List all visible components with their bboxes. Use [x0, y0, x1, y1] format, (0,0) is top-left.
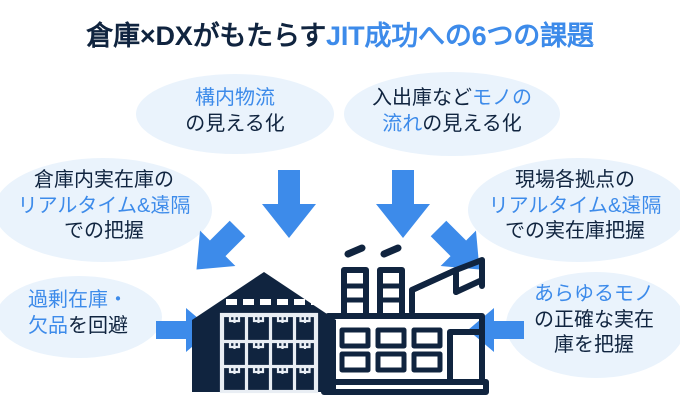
factory-icon — [324, 248, 486, 392]
callout-segment: リアルタイム&遠隔 — [489, 195, 662, 217]
callout-line: 流れの見える化 — [352, 112, 552, 138]
arrow-down-icon-left — [258, 168, 320, 240]
callout-arayuru-mono-seikaku: あらゆるモノ の正確な実在 庫を把握 — [516, 282, 672, 359]
callout-line: 入出庫などモノの — [352, 86, 552, 112]
callout-nyushukko-mono-nagare: 入出庫などモノの 流れの見える化 — [352, 86, 552, 137]
callout-line: あらゆるモノ — [516, 282, 672, 308]
callout-segment: 流れ — [382, 113, 422, 135]
smoke-puff-icon — [348, 248, 398, 254]
callout-segment: を回避 — [68, 315, 128, 337]
callout-segment: の見える化 — [422, 113, 521, 135]
callout-line: 過剰在庫・ — [8, 288, 148, 314]
callout-segment: 倉庫内実在庫の — [34, 169, 174, 191]
callout-line: 欠品を回避 — [8, 314, 148, 340]
title-part-blue: JIT成功への6つの課題 — [326, 21, 594, 51]
callout-segment: リアルタイム&遠隔 — [18, 195, 191, 217]
callout-line: での把握 — [6, 219, 202, 245]
callout-line: の正確な実在 — [516, 308, 672, 334]
callout-line: 庫を把握 — [516, 333, 672, 359]
callout-segment: の見える化 — [185, 113, 284, 135]
title-part-navy: 倉庫×DXがもたらす — [86, 21, 326, 51]
callout-line: での実在庫把握 — [476, 219, 674, 245]
callout-line: 現場各拠点の — [476, 168, 674, 194]
callout-segment: 過剰在庫・ — [28, 289, 128, 311]
callout-line: の見える化 — [150, 112, 320, 138]
factory-windows — [342, 330, 440, 370]
warehouse-icon — [192, 272, 336, 392]
infographic-canvas: 倉庫×DXがもたらすJIT成功への6つの課題 構内物流 の見える化 入出庫などモ… — [0, 0, 680, 400]
callout-kajo-zaiko-kehin: 過剰在庫・ 欠品を回避 — [8, 288, 148, 339]
callout-segment: 入出庫など — [372, 87, 472, 109]
callout-konai-butsuryu: 構内物流 の見える化 — [150, 86, 320, 137]
smokestack-left — [344, 270, 366, 316]
callout-segment: での実在庫把握 — [505, 220, 645, 242]
callout-line: リアルタイム&遠隔 — [476, 194, 674, 220]
callout-line: リアルタイム&遠隔 — [6, 194, 202, 220]
callout-line: 倉庫内実在庫の — [6, 168, 202, 194]
callout-segment: 庫を把握 — [554, 334, 634, 356]
factory-door — [450, 332, 482, 382]
page-title: 倉庫×DXがもたらすJIT成功への6つの課題 — [0, 14, 680, 53]
callout-genba-kakukyoten: 現場各拠点の リアルタイム&遠隔 での実在庫把握 — [476, 168, 674, 245]
callout-soko-nai-jitsuzaiko: 倉庫内実在庫の リアルタイム&遠隔 での把握 — [6, 168, 202, 245]
callout-segment: の正確な実在 — [534, 309, 654, 331]
callout-segment: 構内物流 — [195, 87, 275, 109]
arrow-down-icon-right — [372, 168, 434, 240]
callout-segment: での把握 — [64, 220, 144, 242]
callout-segment: モノの — [472, 87, 532, 109]
smokestack-right — [380, 270, 402, 316]
callout-segment: 欠品 — [28, 315, 68, 337]
callout-segment: 現場各拠点の — [515, 169, 635, 191]
callout-line: 構内物流 — [150, 86, 320, 112]
factory-base — [324, 382, 486, 392]
warehouse-factory-illustration — [188, 242, 492, 398]
callout-segment: あらゆるモノ — [534, 283, 654, 305]
